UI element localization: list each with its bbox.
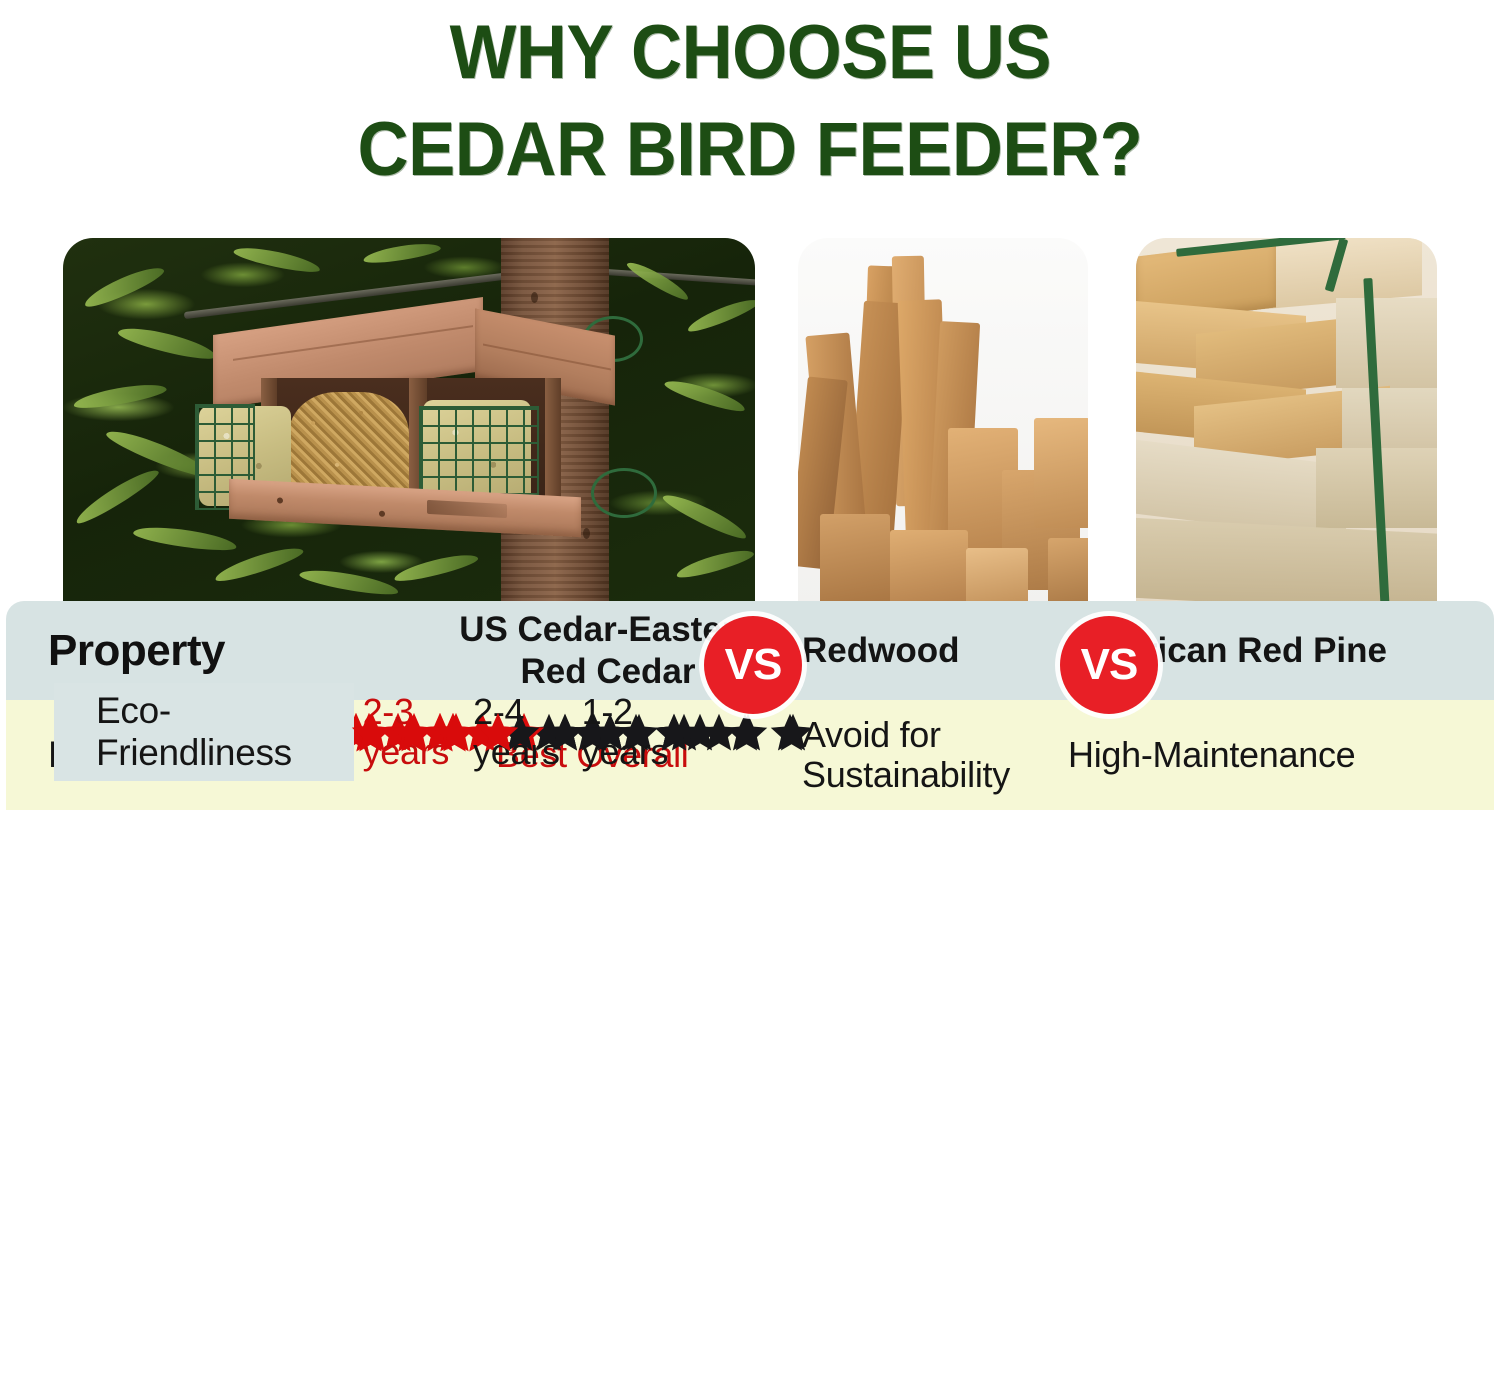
column-header-redwood: Redwood (778, 631, 1046, 671)
title-line-1: WHY CHOOSE US (449, 4, 1050, 101)
lumber-board (1136, 517, 1437, 606)
firewood-log (890, 530, 968, 606)
comparison-table: Property US Cedar-Eastern Red Cedar Redw… (6, 601, 1494, 1390)
pine-cell: High-Maintenance (1046, 735, 1446, 775)
redwood-value: Avoid for Sustainability (802, 715, 1046, 796)
firewood-log (966, 548, 1028, 606)
table-body: Moisture ResistanceInsect ResistanceWeat… (6, 700, 1494, 810)
vs-badge-2: VS (1060, 616, 1158, 714)
redwood-cell: Avoid for Sustainability (778, 715, 1046, 796)
comparison-image-strip: VS VS (0, 238, 1500, 606)
cedar-bird-feeder-photo (63, 238, 755, 606)
row-property-cell: Eco-Friendliness (54, 690, 292, 774)
redwood-firewood-photo (798, 238, 1088, 606)
bird-feeder (213, 296, 613, 556)
redwood-cell (520, 711, 631, 753)
page-title: WHY CHOOSE US CEDAR BIRD FEEDER? (0, 0, 1500, 210)
column-header-property: Property (6, 626, 438, 676)
firewood-log (1048, 538, 1088, 606)
pine-value: High-Maintenance (1068, 735, 1446, 775)
pine-cell (631, 711, 695, 753)
vs-badge-1: VS (704, 616, 802, 714)
firewood-log (1034, 418, 1088, 528)
row-property-label: Eco-Friendliness (96, 690, 292, 774)
star-rating-4 (350, 710, 520, 754)
table-row: Eco-Friendliness (54, 683, 354, 781)
star-rating-1 (653, 711, 695, 753)
birdseed-hopper (289, 392, 409, 496)
red-pine-lumber-photo (1136, 238, 1437, 606)
firewood-log (820, 514, 890, 606)
title-line-2: CEDAR BIRD FEEDER? (358, 101, 1143, 198)
cedar-cell (292, 710, 520, 754)
star-rating-2 (544, 711, 631, 753)
lumber-board (1336, 298, 1437, 388)
feeder-column (545, 378, 561, 500)
